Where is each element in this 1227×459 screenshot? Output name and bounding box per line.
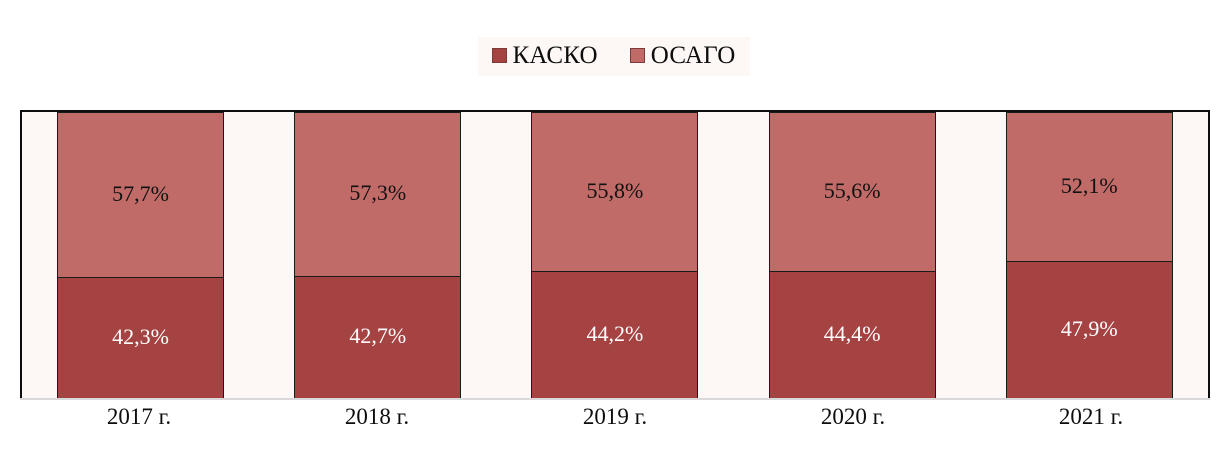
bar-label-osago-2018: 57,3% — [349, 182, 406, 204]
bar-segment-kasko-2021[interactable]: 47,9% — [1006, 262, 1173, 398]
legend-swatch-kasko-icon — [492, 48, 507, 63]
bar-label-osago-2017: 57,7% — [112, 183, 169, 205]
bar-segment-kasko-2018[interactable]: 42,7% — [294, 277, 461, 398]
x-axis-tick-label-2017: 2017 г. — [56, 404, 223, 429]
bar-column-2020[interactable]: 55,6% 44,4% — [769, 112, 936, 398]
legend-item-kasko[interactable]: КАСКО — [492, 43, 598, 68]
bar-label-kasko-2020: 44,4% — [824, 323, 881, 345]
bar-label-osago-2021: 52,1% — [1061, 175, 1118, 197]
bar-segment-osago-2019[interactable]: 55,8% — [531, 112, 698, 272]
chart-legend: КАСКО ОСАГО — [0, 34, 1227, 78]
bar-segment-osago-2020[interactable]: 55,6% — [769, 112, 936, 272]
bar-column-2018[interactable]: 57,3% 42,7% — [294, 112, 461, 398]
x-axis-line — [20, 398, 1210, 400]
plot-area: 57,7% 42,3% 57,3% 42,7% 55,8% — [20, 110, 1210, 398]
x-axis-tick-label-2021: 2021 г. — [1008, 404, 1175, 429]
stacked-bar-chart: КАСКО ОСАГО 57,7% 42,3% 57,3% — [0, 0, 1227, 459]
bar-label-kasko-2019: 44,2% — [587, 323, 644, 345]
bar-label-kasko-2021: 47,9% — [1061, 318, 1118, 340]
x-axis-tick-label-2020: 2020 г. — [770, 404, 937, 429]
x-axis-category-labels: 2017 г. 2018 г. 2019 г. 2020 г. 2021 г. — [20, 404, 1210, 448]
bar-segment-kasko-2017[interactable]: 42,3% — [57, 278, 224, 398]
bar-label-osago-2020: 55,6% — [824, 180, 881, 202]
legend-label-kasko: КАСКО — [513, 43, 598, 68]
legend-label-osago: ОСАГО — [651, 43, 736, 68]
bar-segment-osago-2018[interactable]: 57,3% — [294, 112, 461, 277]
x-axis-tick-label-2018: 2018 г. — [294, 404, 461, 429]
bar-segment-kasko-2019[interactable]: 44,2% — [531, 272, 698, 398]
bar-segment-osago-2017[interactable]: 57,7% — [57, 112, 224, 278]
bar-column-2021[interactable]: 52,1% 47,9% — [1006, 112, 1173, 398]
legend-item-osago[interactable]: ОСАГО — [630, 43, 736, 68]
bar-column-2019[interactable]: 55,8% 44,2% — [531, 112, 698, 398]
bar-label-kasko-2018: 42,7% — [349, 325, 406, 347]
bar-segment-osago-2021[interactable]: 52,1% — [1006, 112, 1173, 262]
bar-label-osago-2019: 55,8% — [587, 180, 644, 202]
bar-group: 57,7% 42,3% 57,3% 42,7% 55,8% — [22, 112, 1208, 398]
bar-segment-kasko-2020[interactable]: 44,4% — [769, 272, 936, 398]
legend-container: КАСКО ОСАГО — [478, 37, 750, 76]
bar-column-2017[interactable]: 57,7% 42,3% — [57, 112, 224, 398]
bar-label-kasko-2017: 42,3% — [112, 326, 169, 348]
x-axis-tick-label-2019: 2019 г. — [532, 404, 699, 429]
legend-swatch-osago-icon — [630, 48, 645, 63]
